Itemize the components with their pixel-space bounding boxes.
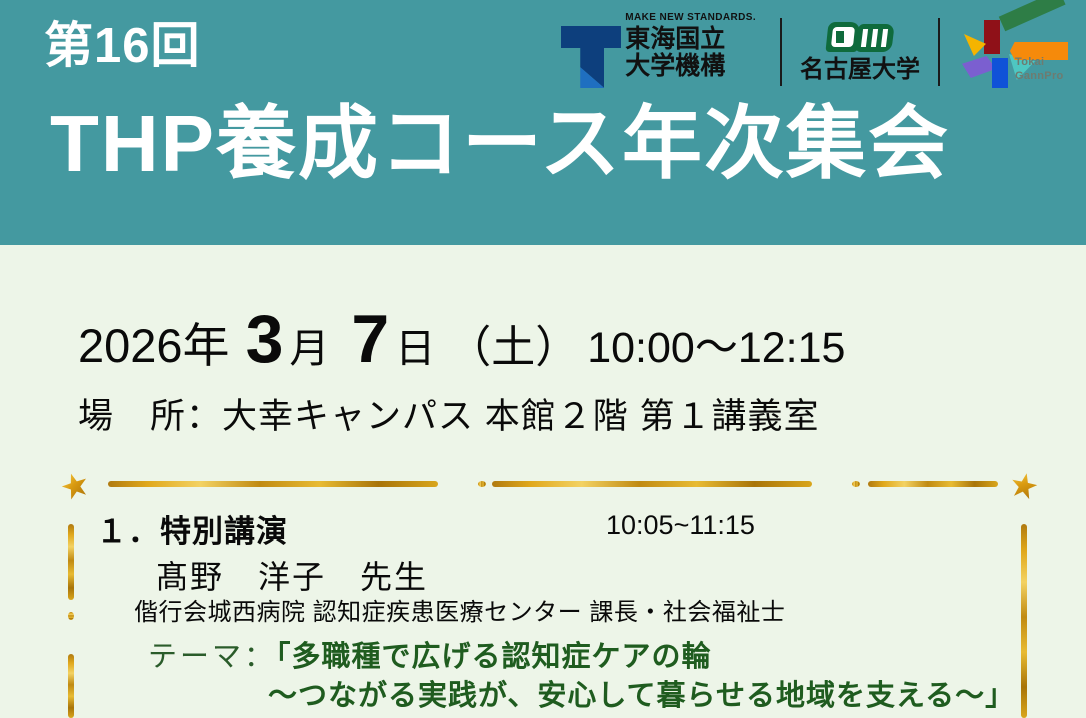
gannpro-green-blade-icon bbox=[999, 0, 1066, 31]
event-day-number: 7 bbox=[351, 300, 389, 378]
star-icon-left bbox=[59, 470, 92, 503]
tokai-logo-text: MAKE NEW STANDARDS. 東海国立 大学機構 bbox=[625, 13, 756, 80]
gold-divider-segment-1 bbox=[108, 481, 438, 487]
event-month-unit: 月 bbox=[289, 316, 329, 374]
nagoya-mark-icon bbox=[827, 22, 893, 54]
event-date-line: 2026年 3 月 7 日 （土） 10:00〜12:15 bbox=[78, 300, 845, 378]
edition-label: 第16回 bbox=[44, 22, 201, 71]
logo-divider-1 bbox=[780, 18, 782, 86]
nagoya-university-logo: 名古屋大学 bbox=[794, 22, 926, 82]
gannpro-label-line-2: GannPro bbox=[1015, 70, 1064, 82]
program-speaker-affiliation: 偕行会城西病院 認知症疾患医療センター 課長・社会福祉士 bbox=[134, 592, 785, 627]
tokai-gannpro-logo: TokaiGannPro bbox=[962, 12, 1068, 92]
gold-vertical-left-dot bbox=[68, 612, 74, 620]
tokai-tagline: MAKE NEW STANDARDS. bbox=[625, 13, 756, 23]
program-theme-line-1: テーマ：「多職種で広げる認知症ケアの輪 bbox=[148, 633, 712, 675]
gold-divider-dot-1 bbox=[478, 481, 486, 487]
logo-divider-2 bbox=[938, 18, 940, 86]
gold-vertical-right-segment bbox=[1021, 524, 1027, 718]
gold-vertical-left-segment-2 bbox=[68, 654, 74, 718]
gannpro-purple-blade-icon bbox=[962, 56, 996, 78]
tokai-name-line-2: 大学機構 bbox=[625, 53, 756, 80]
gannpro-yellow-blade-icon bbox=[964, 34, 986, 56]
event-day-unit: 日 bbox=[395, 316, 435, 374]
program-theme-text-1: 「多職種で広げる認知症ケアの輪 bbox=[276, 641, 712, 673]
event-month-number: 3 bbox=[246, 300, 284, 378]
tokai-national-logo: MAKE NEW STANDARDS. 東海国立 大学機構 bbox=[561, 13, 768, 91]
gold-divider-segment-3 bbox=[868, 481, 998, 487]
gannpro-label: TokaiGannPro bbox=[1015, 56, 1064, 84]
event-venue: 場 所：大幸キャンパス 本館２階 第１講義室 bbox=[78, 388, 819, 439]
page-title: THP養成コース年次集会 bbox=[50, 102, 950, 186]
tokai-name-line-1: 東海国立 bbox=[625, 26, 756, 53]
program-theme-line-2: 〜つながる実践が、安心して暮らせる地域を支える〜」 bbox=[268, 672, 1015, 714]
nagoya-university-name: 名古屋大学 bbox=[800, 58, 920, 82]
program-theme-label: テーマ： bbox=[148, 641, 276, 673]
gold-divider-dot-2 bbox=[852, 481, 860, 487]
gold-divider-segment-2 bbox=[492, 481, 812, 487]
logo-cluster: MAKE NEW STANDARDS. 東海国立 大学機構 名古屋大学 bbox=[561, 8, 1068, 96]
program-item-time: 10:05~11:15 bbox=[606, 510, 755, 541]
event-year: 2026年 bbox=[78, 307, 230, 376]
event-day-of-week: （土） bbox=[447, 311, 579, 375]
star-icon-right bbox=[1009, 471, 1040, 502]
gannpro-blue-blade-icon bbox=[992, 58, 1008, 88]
event-time-range: 10:00〜12:15 bbox=[587, 313, 845, 375]
header-band: 第16回 THP養成コース年次集会 MAKE NEW STANDARDS. 東海… bbox=[0, 0, 1086, 245]
gold-vertical-left-segment-1 bbox=[68, 524, 74, 600]
gannpro-red-blade-icon bbox=[984, 20, 1000, 54]
tokai-mark-icon bbox=[561, 26, 621, 88]
program-item-heading: １．特別講演 bbox=[96, 506, 288, 551]
gannpro-label-line-1: Tokai bbox=[1015, 56, 1044, 68]
